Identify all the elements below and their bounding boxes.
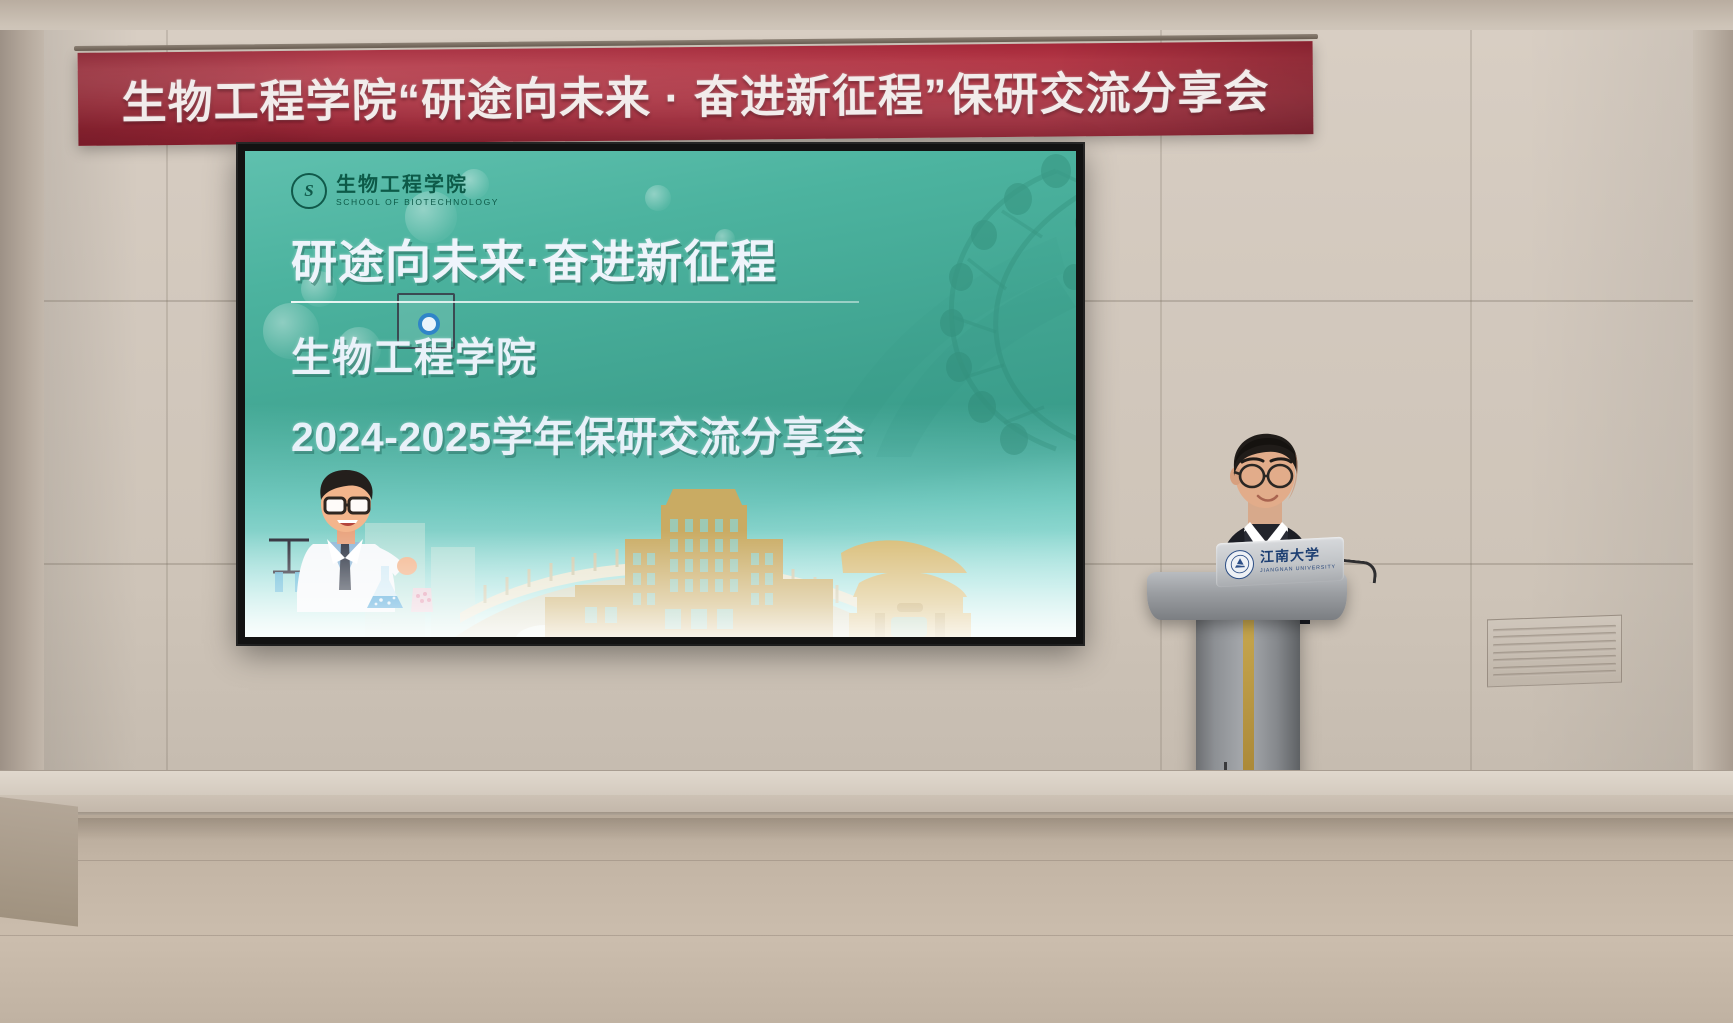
slide-title: 研途向未来·奋进新征程 — [291, 237, 991, 288]
plaque-name-en: JIANGNAN UNIVERSITY — [1260, 565, 1336, 574]
slide-subtitle-school: 生物工程学院 — [291, 325, 991, 383]
slide-subtitle-event: 2024-2025学年保研交流分享会 — [291, 403, 991, 463]
vent-slat — [1493, 624, 1616, 631]
air-vent — [1487, 615, 1622, 688]
slide-bottom-glow — [245, 530, 1076, 637]
vent-slat — [1493, 663, 1616, 670]
banner-text: 生物工程学院“研途向未来 · 奋进新征程”保研交流分享会 — [121, 55, 1270, 131]
event-banner: 生物工程学院“研途向未来 · 奋进新征程”保研交流分享会 — [78, 41, 1314, 146]
slide-title-block: 研途向未来·奋进新征程 生物工程学院 2024-2025学年保研交流分享会 — [291, 237, 991, 463]
floor — [0, 815, 1733, 1023]
wall-left-panel — [0, 30, 44, 772]
plaque-name-cn: 江南大学 — [1260, 548, 1336, 566]
vent-slat — [1493, 655, 1616, 662]
slide-logo: S 生物工程学院 SCHOOL OF BIOTECHNOLOGY — [291, 173, 499, 209]
lectern-plaque: 江南大学 JIANGNAN UNIVERSITY — [1216, 537, 1344, 588]
wall-right-panel — [1693, 30, 1733, 772]
projection-screen: S 生物工程学院 SCHOOL OF BIOTECHNOLOGY 研途向未来·奋… — [245, 151, 1076, 637]
floor-seam — [0, 860, 1733, 861]
vent-slat — [1493, 640, 1616, 647]
auditorium-scene: 生物工程学院“研途向未来 · 奋进新征程”保研交流分享会 — [0, 0, 1733, 1023]
stage-shadow — [0, 818, 1733, 840]
logo-name-cn: 生物工程学院 — [336, 175, 499, 196]
stage-step — [0, 797, 78, 927]
floor-seam — [0, 935, 1733, 936]
title-divider — [291, 301, 859, 303]
logo-name-en: SCHOOL OF BIOTECHNOLOGY — [336, 198, 499, 207]
vent-slat — [1493, 632, 1616, 639]
university-emblem-icon — [1225, 549, 1254, 580]
vent-slat — [1493, 670, 1616, 677]
bokeh-circle — [645, 185, 671, 211]
projection-screen-frame: S 生物工程学院 SCHOOL OF BIOTECHNOLOGY 研途向未来·奋… — [238, 144, 1083, 644]
wall-seam-vertical — [1470, 30, 1472, 770]
wall-seam-vertical — [1160, 30, 1162, 770]
vent-slat — [1493, 647, 1616, 654]
biotechnology-logo-mark: S — [291, 173, 327, 209]
